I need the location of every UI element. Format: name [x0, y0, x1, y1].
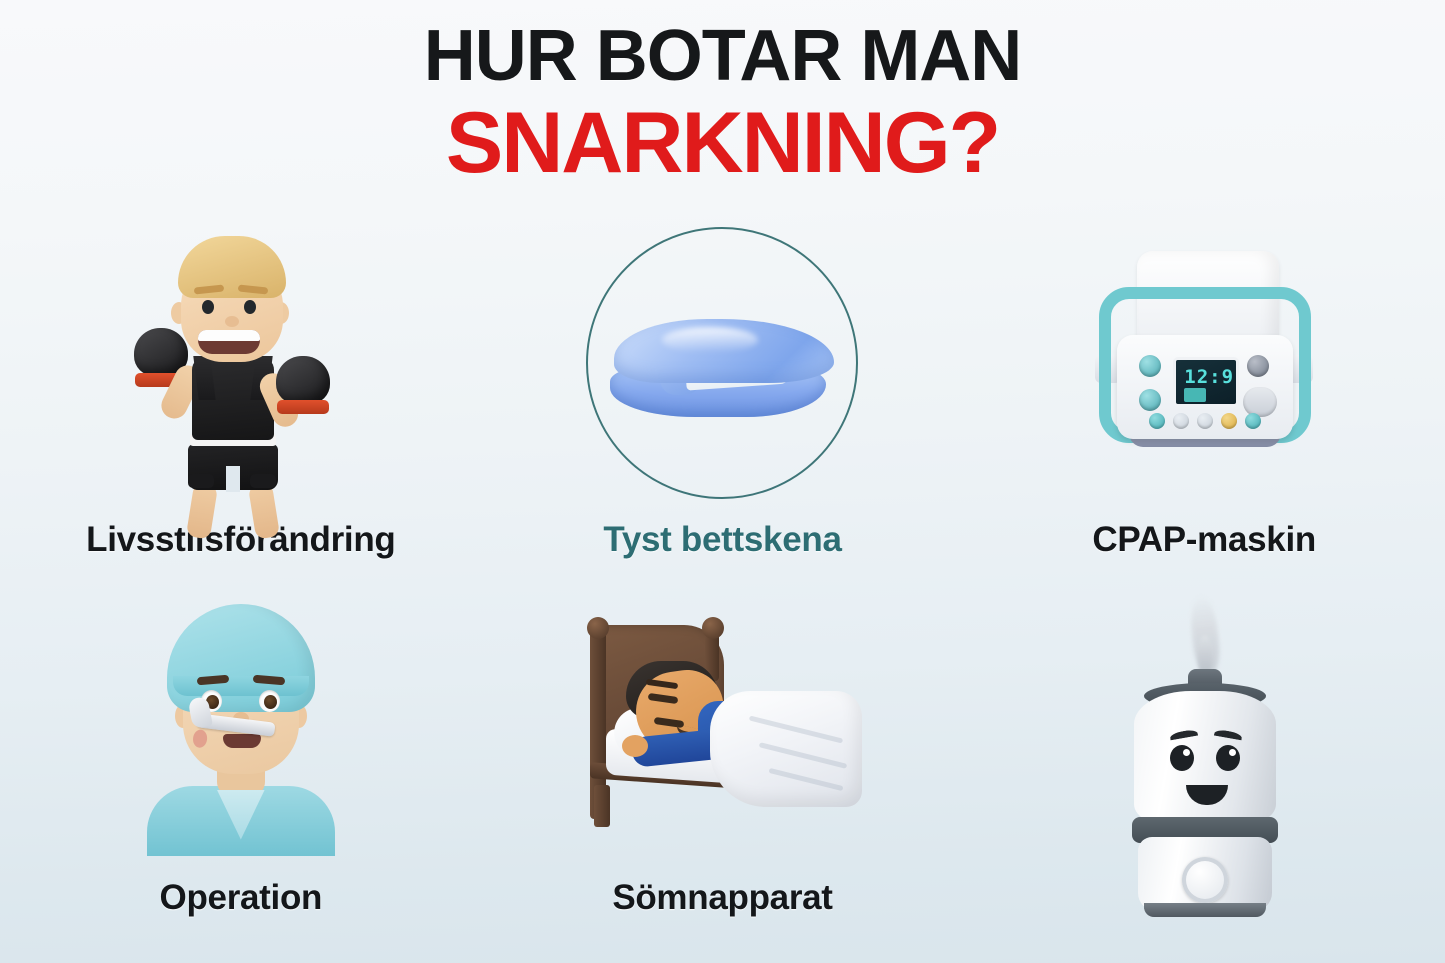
mouthguard-icon — [572, 232, 872, 494]
humidifier-upper-body — [1134, 691, 1276, 829]
option-card-livsstilsforandring[interactable]: Livsstilsförändring — [0, 232, 482, 598]
highlight-gloss — [662, 327, 758, 353]
cpap-button-1 — [1149, 413, 1165, 429]
nose — [225, 316, 239, 327]
option-label-cpap-maskin: CPAP-maskin — [1092, 520, 1316, 560]
cpap-button-3 — [1197, 413, 1213, 429]
option-label-livsstilsforandring: Livsstilsförändring — [86, 520, 395, 560]
title-line-highlight: SNARKNING? — [0, 100, 1445, 186]
cpap-display-bar — [1184, 388, 1206, 402]
mouth — [198, 330, 260, 354]
teeth — [198, 330, 260, 341]
option-card-cpap-maskin[interactable]: 12:9 CPAP-maskin — [963, 232, 1445, 598]
option-label-somnapparat: Sömnapparat — [612, 878, 832, 918]
sleeping-person-icon — [572, 598, 872, 860]
ankle-band-left — [188, 474, 214, 488]
mouth — [223, 734, 261, 748]
cpap-button-4 — [1221, 413, 1237, 429]
pupil-right — [264, 695, 277, 709]
humidifier-icon — [1054, 598, 1354, 860]
surgeon-icon — [91, 598, 391, 860]
option-card-somnapparat[interactable]: Sömnapparat — [482, 598, 964, 963]
option-card-tyst-bettskena[interactable]: Tyst bettskena — [482, 232, 964, 598]
treatment-options-grid: Livsstilsförändring Tyst bettskena — [0, 232, 1445, 963]
boxer-icon — [91, 232, 391, 494]
face-eye-left — [1170, 745, 1194, 771]
option-label-operation: Operation — [160, 878, 323, 918]
option-card-operation[interactable]: Operation — [0, 598, 482, 963]
title-line-primary: HUR BOTAR MAN — [0, 18, 1445, 96]
cpap-machine-icon: 12:9 — [1054, 232, 1354, 494]
humidifier-power-button — [1182, 857, 1228, 903]
face-eye-right — [1216, 745, 1240, 771]
cpap-button-row — [1149, 413, 1261, 429]
cpap-dial-three — [1247, 355, 1269, 377]
cpap-display-value: 12:9 — [1180, 366, 1238, 388]
option-card-fuktare[interactable]: Fuktare — [963, 598, 1445, 963]
surgical-cap — [167, 604, 315, 712]
bed-leg — [594, 785, 610, 827]
cpap-display: 12:9 — [1173, 357, 1239, 407]
option-label-tyst-bettskena: Tyst bettskena — [603, 520, 841, 560]
hand — [622, 735, 648, 757]
ankle-band-right — [250, 474, 276, 488]
cpap-button-5 — [1245, 413, 1261, 429]
eye-right — [244, 300, 256, 314]
cpap-dial-two — [1139, 389, 1161, 411]
glove-cuff-right — [277, 400, 329, 414]
cpap-dial-one — [1139, 355, 1161, 377]
bed-knob-right — [702, 617, 724, 639]
eye-left — [202, 300, 214, 314]
cpap-button-2 — [1173, 413, 1189, 429]
humidifier-foot — [1144, 903, 1266, 917]
boxing-glove-right-icon — [276, 356, 330, 404]
eye-right — [259, 690, 280, 712]
bed-knob-left — [587, 617, 609, 639]
page-title: HUR BOTAR MAN SNARKNING? — [0, 18, 1445, 186]
